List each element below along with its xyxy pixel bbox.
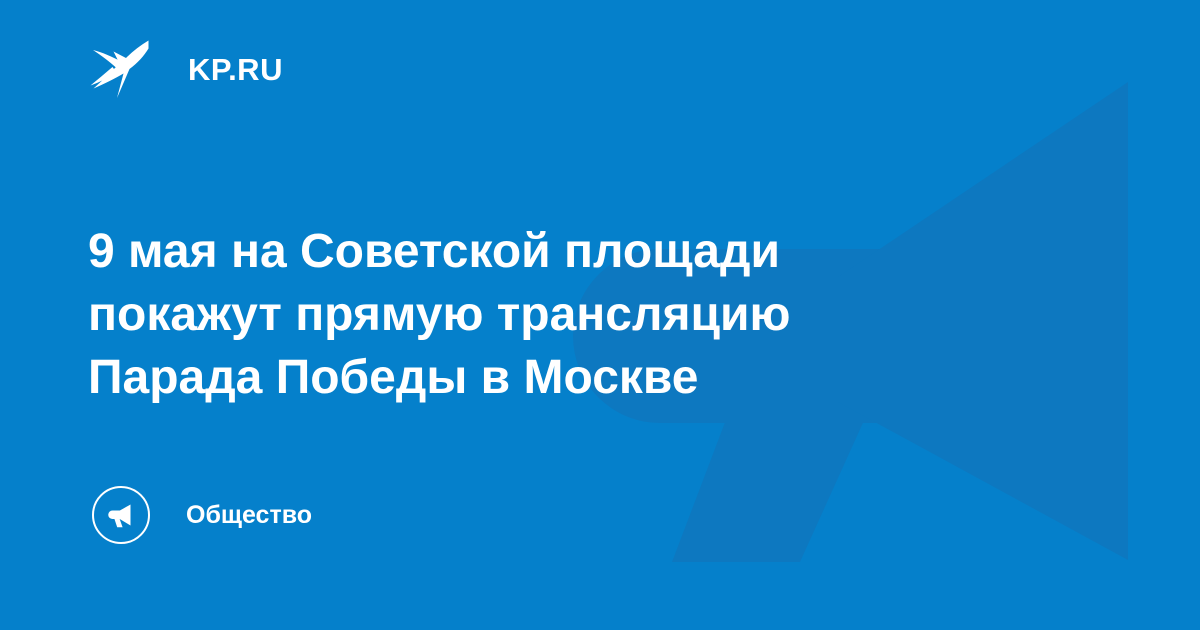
category-label: Общество (186, 503, 312, 528)
article-share-card: KP.RU 9 мая на Советской площади покажут… (0, 0, 1200, 630)
headline-line-1: 9 мая на Советской площади (88, 220, 988, 283)
megaphone-icon (104, 498, 138, 532)
swallow-bird-icon (88, 36, 154, 102)
headline-line-2: покажут прямую трансляцию (88, 283, 988, 346)
article-headline: 9 мая на Советской площади покажут пряму… (88, 220, 988, 409)
brand-name: KP.RU (188, 54, 283, 85)
headline-line-3: Парада Победы в Москве (88, 346, 988, 409)
category-icon-circle (92, 486, 150, 544)
category-badge[interactable]: Общество (92, 485, 312, 545)
brand-logo[interactable]: KP.RU (88, 36, 283, 102)
